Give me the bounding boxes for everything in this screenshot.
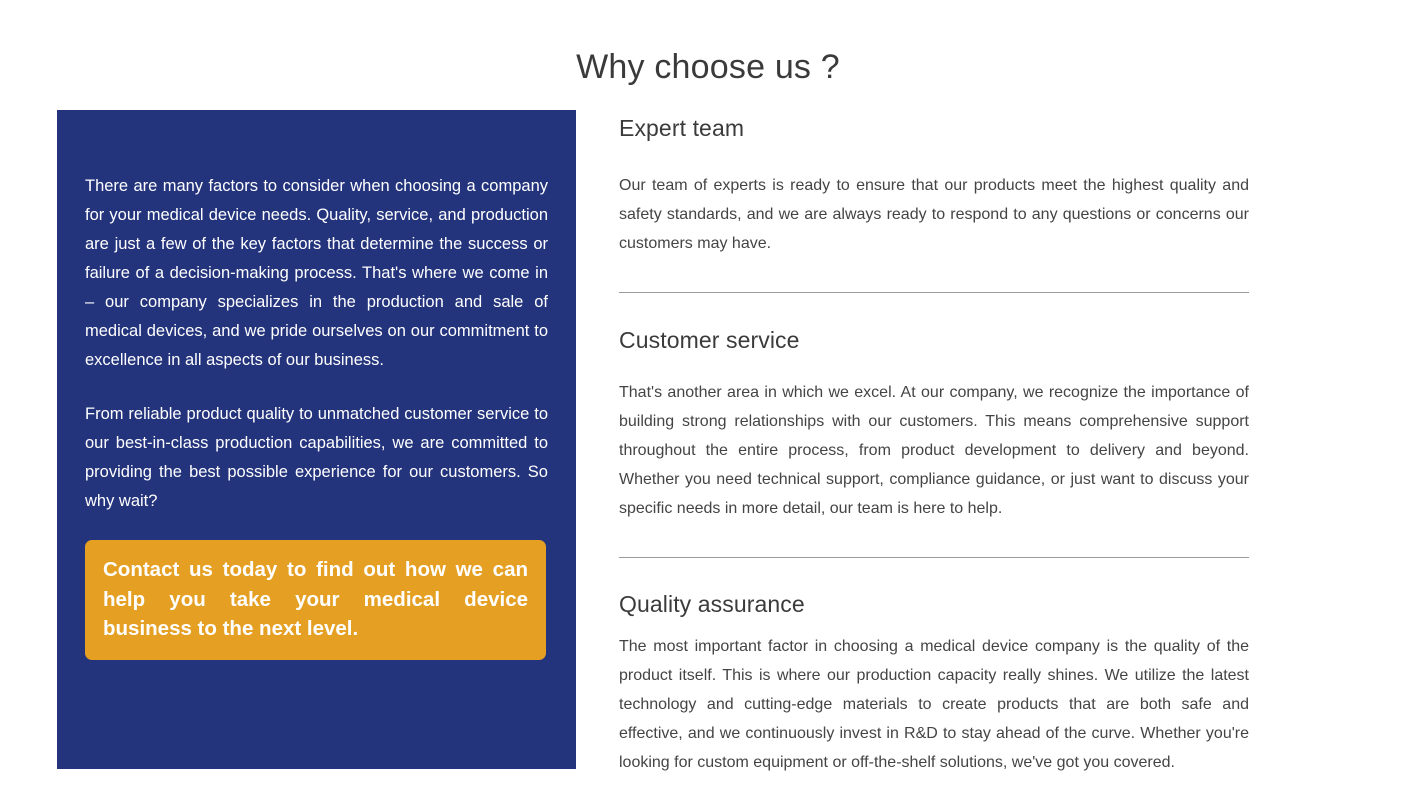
contact-cta-button[interactable]: Contact us today to find out how we can … [85, 540, 546, 660]
spacer-before-divider-2 [619, 523, 1249, 557]
spacer-after-divider-1 [619, 293, 1249, 324]
features-column: Expert team Our team of experts is ready… [619, 110, 1249, 777]
spacer-after-divider-2 [619, 558, 1249, 588]
feature-expert-team: Expert team Our team of experts is ready… [619, 110, 1249, 258]
intro-paragraph-1: There are many factors to consider when … [85, 172, 548, 375]
intro-panel: There are many factors to consider when … [57, 110, 576, 769]
feature-body-customer-service: That's another area in which we excel. A… [619, 356, 1249, 523]
feature-heading-quality-assurance: Quality assurance [619, 588, 1249, 620]
feature-heading-expert-team: Expert team [619, 110, 1249, 144]
page-title: Why choose us ? [0, 45, 1416, 89]
contact-cta-label: Contact us today to find out how we can … [103, 555, 528, 644]
feature-body-quality-assurance: The most important factor in choosing a … [619, 620, 1249, 777]
feature-heading-customer-service: Customer service [619, 324, 1249, 356]
feature-customer-service: Customer service That's another area in … [619, 324, 1249, 523]
feature-body-expert-team: Our team of experts is ready to ensure t… [619, 144, 1249, 258]
content-layout: There are many factors to consider when … [0, 110, 1416, 801]
feature-quality-assurance: Quality assurance The most important fac… [619, 588, 1249, 777]
intro-paragraph-2: From reliable product quality to unmatch… [85, 400, 548, 516]
spacer-before-divider-1 [619, 258, 1249, 292]
